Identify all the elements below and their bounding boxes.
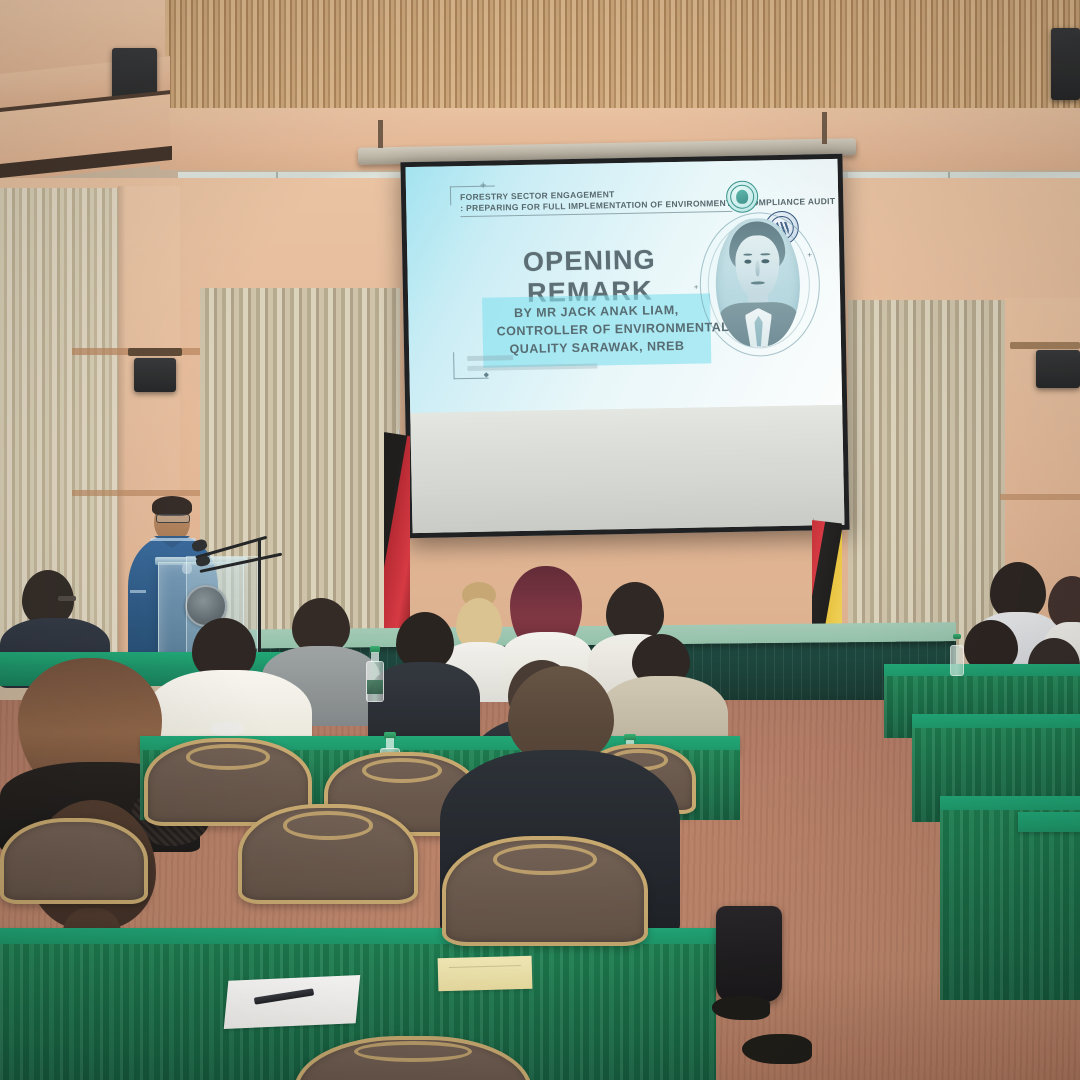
wall-right-reveal xyxy=(1000,494,1080,500)
yellow-notepad xyxy=(438,956,533,991)
floor-shoe xyxy=(742,1034,812,1064)
flag-left-of-screen xyxy=(384,432,410,637)
head xyxy=(606,582,664,642)
nreb-logo-glyph xyxy=(736,190,748,204)
wall-speaker-right-bracket xyxy=(1010,342,1080,349)
speaker-portrait xyxy=(715,218,801,348)
chair-front-c xyxy=(294,1036,524,1080)
collar-tag xyxy=(210,722,244,736)
screen-mount-left xyxy=(378,120,383,148)
slide-header: FORESTRY SECTOR ENGAGEMENT : PREPARING F… xyxy=(460,186,760,217)
chair-backrest xyxy=(294,1036,532,1080)
table-right-aisle-2-top xyxy=(1018,812,1080,832)
slide-subtitle-line-3: QUALITY SARAWAK, NREB xyxy=(497,337,697,359)
projector-screen-blank-area xyxy=(410,405,844,533)
conference-hall-photo: + ◆ FORESTRY SECTOR ENGAGEMENT : PREPARI… xyxy=(0,0,1080,1080)
chair-front-b xyxy=(442,836,640,938)
portrait-eye-right xyxy=(762,259,770,263)
chair-row-far-left xyxy=(0,818,140,896)
chair-back-cutout xyxy=(186,744,271,770)
slide-tick-top: + xyxy=(480,181,487,192)
floor-bag xyxy=(716,906,782,1002)
white-paper-sheet xyxy=(224,975,361,1029)
bottle-label xyxy=(367,680,383,693)
slide-subtitle-box: BY MR JACK ANAK LIAM, CONTROLLER OF ENVI… xyxy=(482,293,711,368)
chair-backrest xyxy=(0,818,148,904)
screen-mount-right xyxy=(822,112,827,144)
chair-back-cutout xyxy=(362,758,441,783)
wall-speaker-right xyxy=(1036,350,1080,388)
projector-screen: + ◆ FORESTRY SECTOR ENGAGEMENT : PREPARI… xyxy=(400,154,849,538)
bottle-body xyxy=(950,645,964,676)
presenter-collar-trim xyxy=(150,538,196,541)
notepad-rule xyxy=(449,965,520,968)
water-bottle-5 xyxy=(950,634,964,676)
speaker-portrait-image xyxy=(715,218,801,348)
chair-back-cutout xyxy=(493,844,596,874)
chair-back-cutout xyxy=(283,811,374,839)
bottle-cap xyxy=(953,634,961,639)
portrait-mouth xyxy=(751,281,764,284)
water-bottle-1 xyxy=(366,646,384,702)
table-right-aisle-1-skirt xyxy=(940,810,1080,1000)
presenter-glasses xyxy=(156,514,190,523)
portrait-nose xyxy=(755,261,759,276)
chair-back-cutout xyxy=(354,1041,472,1062)
slide-footer-blur-1 xyxy=(467,355,513,361)
chair-backrest xyxy=(442,836,648,946)
pilaster-shadow-left xyxy=(118,186,126,652)
pilaster-reveal-left-2 xyxy=(72,490,204,496)
portrait-brow-right xyxy=(761,253,770,256)
bottle-body xyxy=(366,661,384,702)
slide-footer-blur-2 xyxy=(467,364,597,371)
floor-shoe-2 xyxy=(712,996,770,1020)
wall-speaker-left xyxy=(134,358,176,392)
slide-decor-plus-left: + xyxy=(694,284,699,292)
wall-speaker-top-right xyxy=(1051,28,1080,100)
presenter-hair xyxy=(152,496,192,516)
chair-backrest xyxy=(238,804,418,904)
presentation-slide: + ◆ FORESTRY SECTOR ENGAGEMENT : PREPARI… xyxy=(406,159,843,413)
wall-speaker-left-bracket xyxy=(128,348,182,356)
slide-tick-bottom: ◆ xyxy=(483,372,489,379)
chair-front-a xyxy=(238,804,410,896)
flag-right-of-screen xyxy=(812,520,842,638)
eyeglass-temple xyxy=(58,596,76,601)
slide-decor-plus-right: + xyxy=(807,251,812,259)
presenter-sleeve-trim xyxy=(130,590,146,593)
